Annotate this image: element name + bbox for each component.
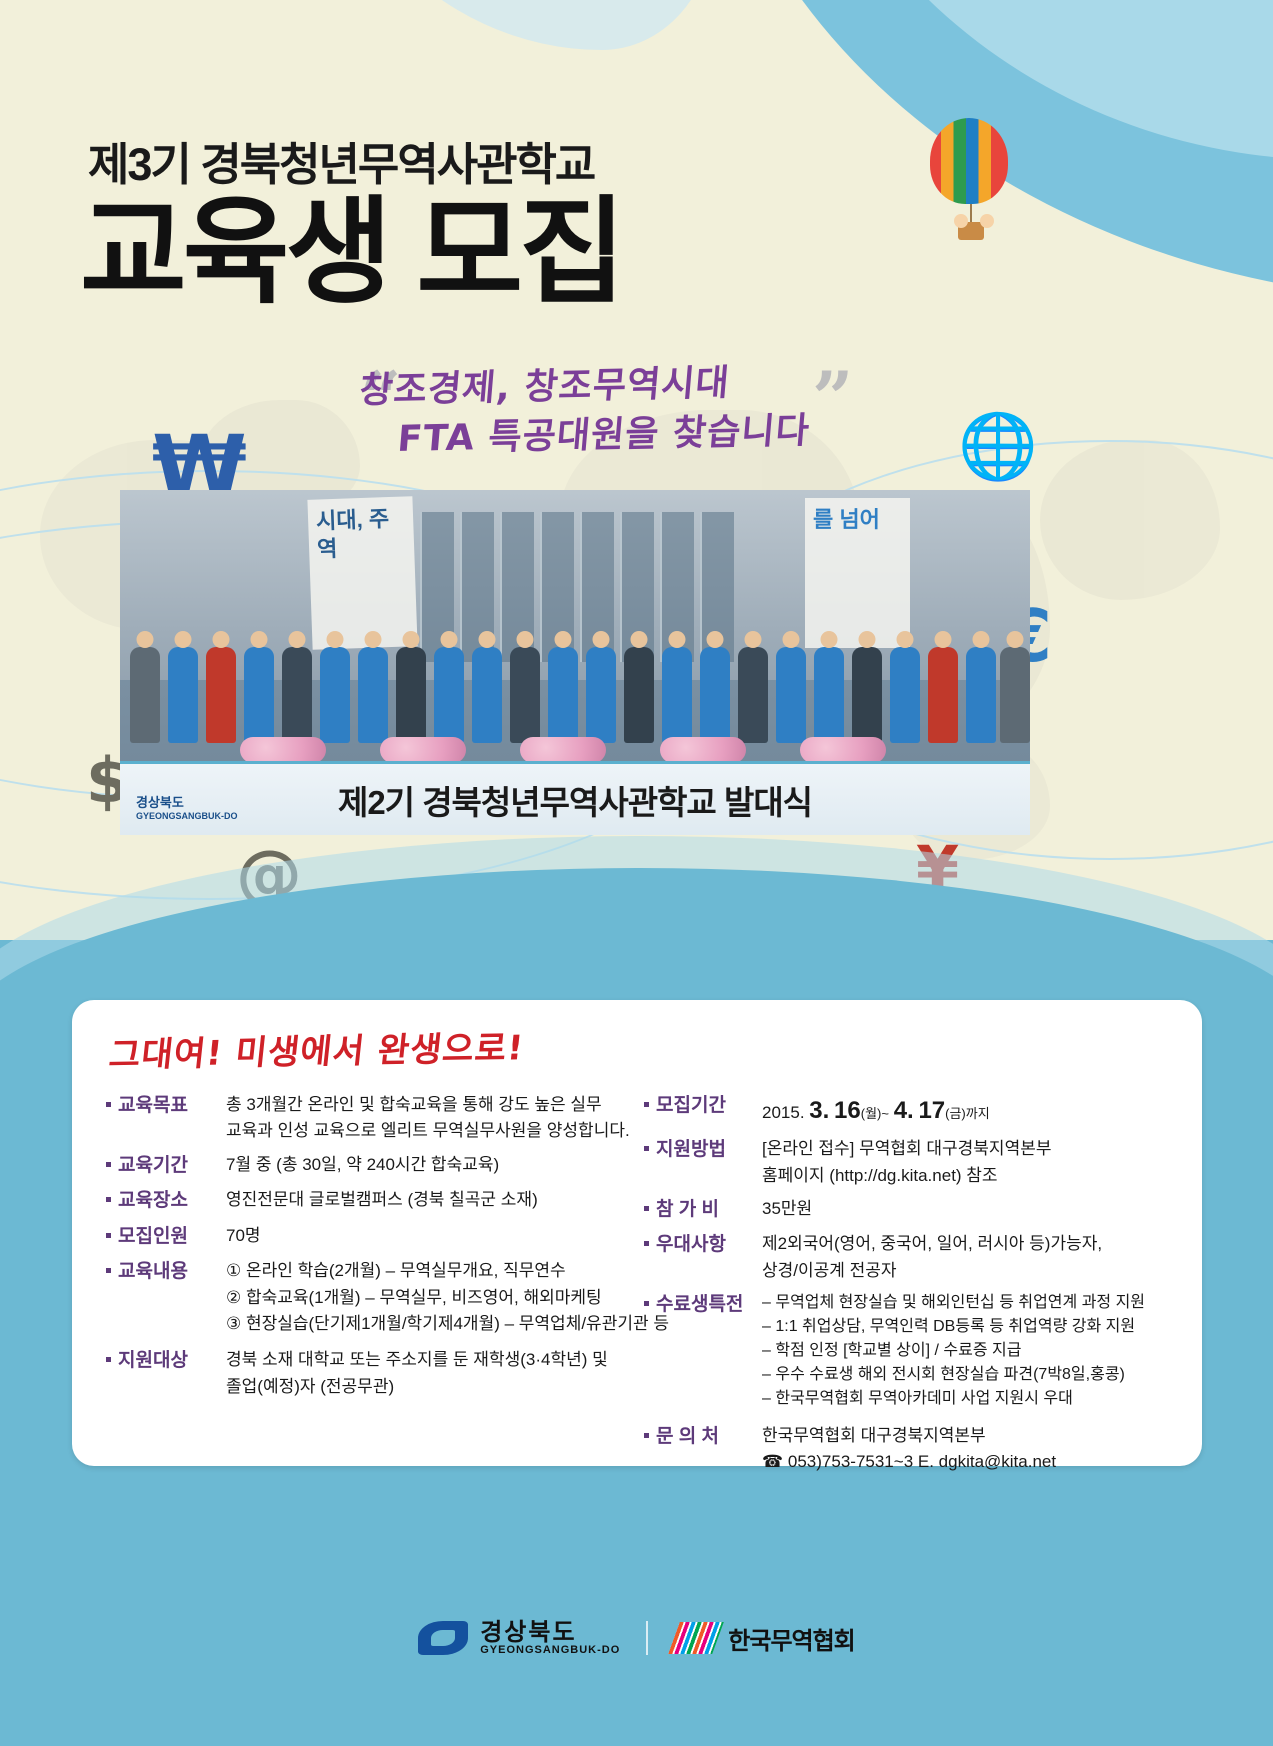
info-row-venue: 교육장소 영진전문대 글로벌캠퍼스 (경북 칠곡군 소재): [106, 1187, 636, 1216]
info-row-contact: 문 의 처 한국무역협회 대구경북지역본부 ☎ 053)753-7531~3 E…: [644, 1423, 1184, 1476]
info-value: – 무역업체 현장실습 및 해외인턴십 등 취업연계 과정 지원 – 1:1 취…: [762, 1291, 1184, 1411]
info-value: 35만원: [762, 1196, 1184, 1225]
banner-headline: 제2기 경북청년무역사관학교 발대식: [338, 776, 812, 824]
info-value: 70명: [226, 1223, 636, 1252]
poster-root: 제3기 경북청년무역사관학교 교육생 모집 “ ” 창조경제, 창조무역시대 F…: [0, 0, 1273, 1746]
kita-mark-icon: [668, 1622, 724, 1654]
photo-bouquets: [120, 733, 1030, 763]
date-end-month: 4.: [894, 1097, 914, 1124]
info-column-right: 모집기간 2015. 3. 16(월)~ 4. 17(금)까지 지원방법 [온라…: [644, 1092, 1184, 1483]
info-value: 경북 소재 대학교 또는 주소지를 둔 재학생(3·4학년) 및 졸업(예정)자…: [226, 1347, 636, 1400]
banner-gb-ko: 경상북도: [136, 796, 238, 811]
footer-logos: 경상북도 GYEONGSANGBUK-DO 한국무역협회: [0, 1620, 1273, 1657]
globe-icon: 🌐: [958, 415, 1038, 479]
info-label: 지원방법: [644, 1136, 762, 1189]
gb-logo-en: GYEONGSANGBUK-DO: [480, 1645, 620, 1657]
info-row-eligibility: 지원대상 경북 소재 대학교 또는 주소지를 둔 재학생(3·4학년) 및 졸업…: [106, 1347, 636, 1400]
info-label: 교육기간: [106, 1152, 226, 1181]
info-column-left: 교육목표 총 3개월간 온라인 및 합숙교육을 통해 강도 높은 실무 교육과 …: [106, 1092, 636, 1407]
info-row-application-period: 모집기간 2015. 3. 16(월)~ 4. 17(금)까지: [644, 1092, 1184, 1129]
info-value: [온라인 접수] 무역협회 대구경북지역본부 홈페이지 (http://dg.k…: [762, 1136, 1184, 1189]
info-label: 교육장소: [106, 1187, 226, 1216]
date-start-weekday: (월)~: [861, 1106, 889, 1121]
sky-arc-decoration-3: [293, 0, 713, 50]
footer-divider: [646, 1621, 648, 1655]
gyeongsangbuk-mark-icon: [418, 1621, 468, 1655]
gb-logo-ko: 경상북도: [480, 1620, 620, 1645]
info-row-headcount: 모집인원 70명: [106, 1223, 636, 1252]
info-card: 그대여! 미생에서 완생으로! 교육목표 총 3개월간 온라인 및 합숙교육을 …: [72, 1000, 1202, 1466]
contact-phone-email[interactable]: ☎ 053)753-7531~3 E. dgkita@kita.net: [762, 1449, 1184, 1475]
info-value: ① 온라인 학습(2개월) – 무역실무개요, 직무연수 ② 합숙교육(1개월)…: [226, 1258, 669, 1337]
info-label: 참 가 비: [644, 1196, 762, 1225]
info-value-date: 2015. 3. 16(월)~ 4. 17(금)까지: [762, 1092, 1184, 1129]
photo-crowd: [120, 603, 1030, 743]
info-label: 모집기간: [644, 1092, 762, 1129]
event-photo: 시대, 주역 를 넘어: [120, 490, 1030, 835]
gyeongsangbuk-logo: 경상북도 GYEONGSANGBUK-DO: [418, 1620, 620, 1657]
info-label: 지원대상: [106, 1347, 226, 1400]
info-row-curriculum: 교육내용 ① 온라인 학습(2개월) – 무역실무개요, 직무연수 ② 합숙교육…: [106, 1258, 636, 1337]
info-value: 영진전문대 글로벌캠퍼스 (경북 칠곡군 소재): [226, 1187, 636, 1216]
banner-gb-en: GYEONGSANGBUK-DO: [136, 811, 238, 821]
date-end-day: 17: [918, 1097, 945, 1124]
info-value-contact: 한국무역협회 대구경북지역본부 ☎ 053)753-7531~3 E. dgki…: [762, 1423, 1184, 1476]
date-start-day: 16: [834, 1097, 861, 1124]
info-label: 교육내용: [106, 1258, 226, 1337]
info-row-benefits: 수료생특전 – 무역업체 현장실습 및 해외인턴십 등 취업연계 과정 지원 –…: [644, 1291, 1184, 1411]
banner-gyeongsangbuk-logo: 경상북도 GYEONGSANGBUK-DO: [136, 796, 238, 821]
info-value: 제2외국어(영어, 중국어, 일어, 러시아 등)가능자, 상경/이공계 전공자: [762, 1231, 1184, 1284]
info-label: 우대사항: [644, 1231, 762, 1284]
contact-org: 한국무역협회 대구경북지역본부: [762, 1423, 1184, 1449]
slogan-line-2: FTA 특공대원을 찾습니다: [395, 406, 882, 465]
info-label: 교육목표: [106, 1092, 226, 1145]
slogan-block: 창조경제, 창조무역시대 FTA 특공대원을 찾습니다: [360, 362, 880, 459]
kita-logo: 한국무역협회: [674, 1621, 854, 1656]
info-row-fee: 참 가 비 35만원: [644, 1196, 1184, 1225]
info-label: 모집인원: [106, 1223, 226, 1252]
card-title: 그대여! 미생에서 완생으로!: [107, 1020, 527, 1076]
info-value: 7월 중 (총 30일, 약 240시간 합숙교육): [226, 1152, 636, 1181]
info-row-goal: 교육목표 총 3개월간 온라인 및 합숙교육을 통해 강도 높은 실무 교육과 …: [106, 1092, 636, 1145]
info-row-how-to-apply: 지원방법 [온라인 접수] 무역협회 대구경북지역본부 홈페이지 (http:/…: [644, 1136, 1184, 1189]
hot-air-balloon-icon: [930, 118, 1022, 268]
date-start-month: 3.: [809, 1097, 829, 1124]
date-end-weekday: (금)까지: [945, 1106, 990, 1121]
info-row-preferences: 우대사항 제2외국어(영어, 중국어, 일어, 러시아 등)가능자, 상경/이공…: [644, 1231, 1184, 1284]
info-row-period: 교육기간 7월 중 (총 30일, 약 240시간 합숙교육): [106, 1152, 636, 1181]
kicker-text: 제3기 경북청년무역사관학교: [88, 128, 594, 193]
page-title: 교육생 모집: [80, 192, 622, 314]
kita-logo-ko: 한국무역협회: [728, 1621, 854, 1656]
date-year: 2015.: [762, 1103, 805, 1122]
info-label: 문 의 처: [644, 1423, 762, 1476]
info-value: 총 3개월간 온라인 및 합숙교육을 통해 강도 높은 실무 교육과 인성 교육…: [226, 1092, 636, 1145]
photo-event-banner: 경상북도 GYEONGSANGBUK-DO 제2기 경북청년무역사관학교 발대식…: [120, 761, 1030, 835]
info-label: 수료생특전: [644, 1291, 762, 1411]
